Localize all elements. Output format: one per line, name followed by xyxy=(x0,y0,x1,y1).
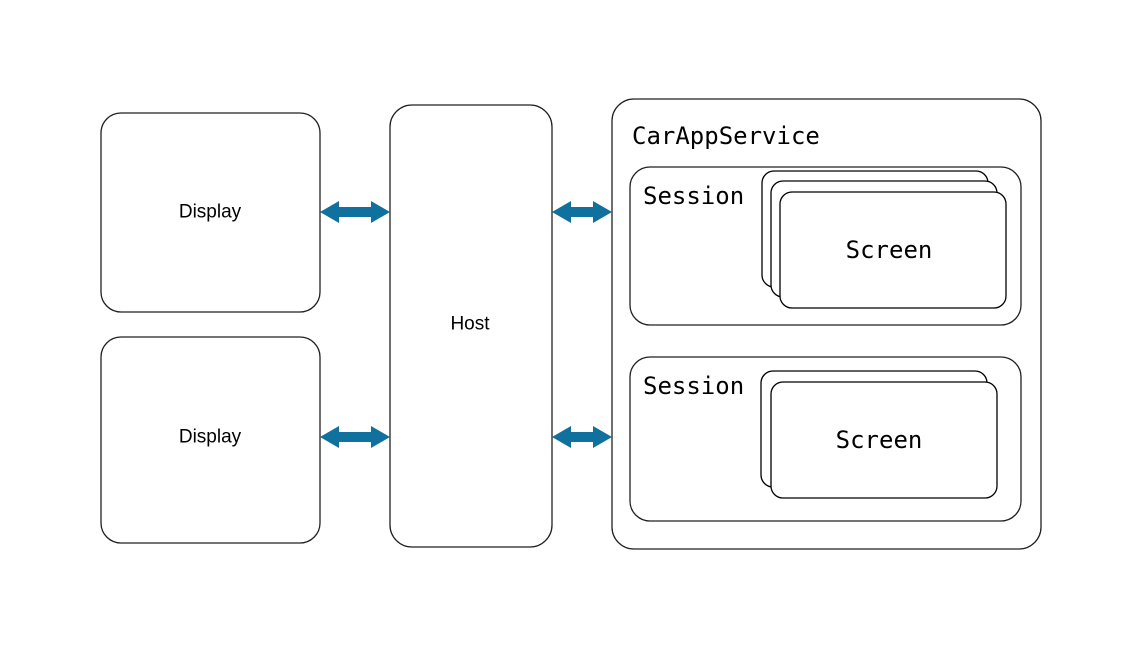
display-top-label: Display xyxy=(179,203,241,222)
connector-arrow-host-to-session-bottom xyxy=(552,426,612,448)
host-label: Host xyxy=(450,315,489,334)
session-top-label: Session xyxy=(643,184,744,208)
car-app-service-label: CarAppService xyxy=(632,124,820,148)
diagram-canvas: Display Display Host CarAppService Sessi… xyxy=(0,0,1141,651)
connector-arrow-display-top-to-host xyxy=(320,201,390,223)
session-bottom-label: Session xyxy=(643,374,744,398)
display-bottom-label: Display xyxy=(179,428,241,447)
connector-arrow-display-bottom-to-host xyxy=(320,426,390,448)
screen-bottom-label: Screen xyxy=(836,428,923,452)
screen-top-label: Screen xyxy=(846,238,933,262)
connector-arrow-host-to-session-top xyxy=(552,201,612,223)
diagram-vector-layer xyxy=(0,0,1141,651)
